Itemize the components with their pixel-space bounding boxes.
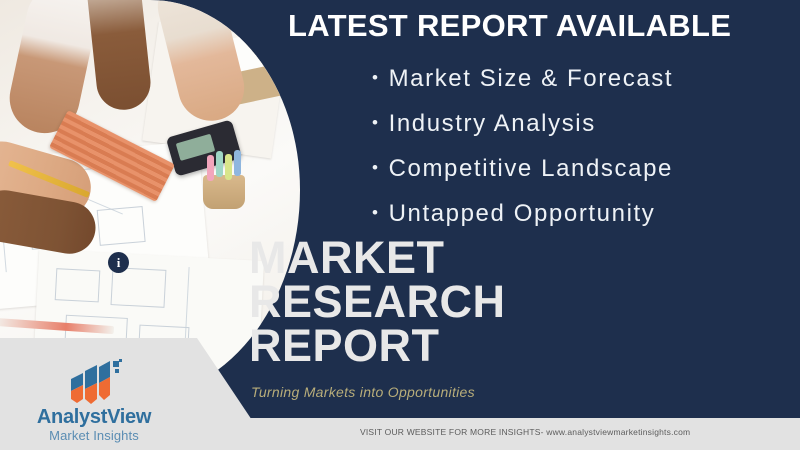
main-heading-line-1: MARKET	[249, 236, 506, 280]
page-title: LATEST REPORT AVAILABLE	[288, 8, 788, 44]
main-heading-line-3: REPORT	[249, 324, 506, 368]
info-icon: i	[108, 252, 129, 273]
tagline: Turning Markets into Opportunities	[251, 384, 475, 400]
logo-name-part2: View	[107, 406, 151, 428]
report-banner: i LATEST REPORT AVAILABLE Market Size & …	[0, 0, 800, 450]
main-heading: MARKET RESEARCH REPORT	[249, 236, 506, 368]
logo-wordmark: AnalystView	[6, 407, 182, 428]
pen-cup	[203, 175, 245, 209]
logo-name-part1: Analyst	[37, 406, 107, 428]
brand-logo: AnalystView Market Insights	[6, 359, 182, 444]
website-note: VISIT OUR WEBSITE FOR MORE INSIGHTS- www…	[360, 427, 690, 437]
feature-list: Market Size & Forecast Industry Analysis…	[372, 56, 673, 236]
main-heading-line-2: RESEARCH	[249, 280, 506, 324]
logo-subtitle: Market Insights	[6, 428, 182, 444]
list-item: Market Size & Forecast	[372, 56, 673, 101]
list-item: Untapped Opportunity	[372, 191, 673, 236]
list-item: Competitive Landscape	[372, 146, 673, 191]
list-item: Industry Analysis	[372, 101, 673, 146]
chart-bars-icon	[63, 359, 125, 405]
